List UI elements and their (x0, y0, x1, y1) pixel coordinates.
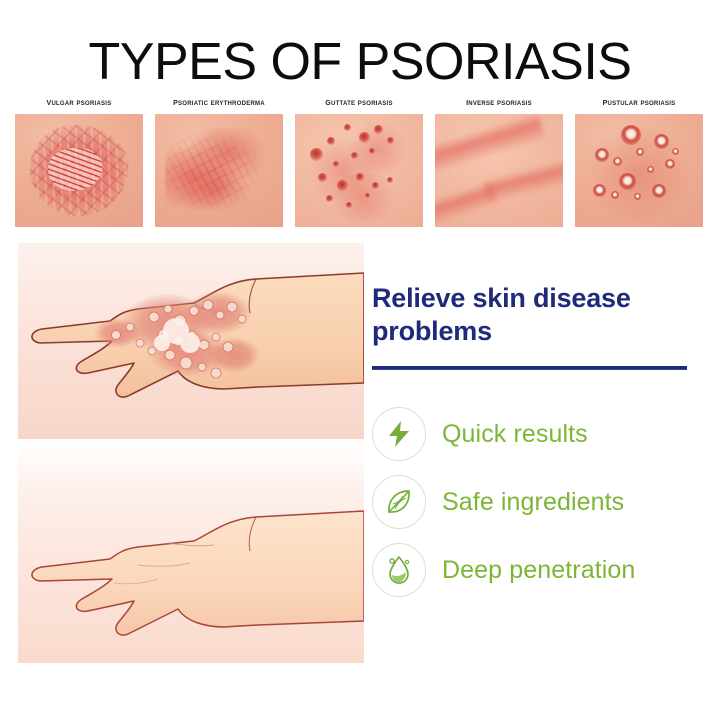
thumbnail-caption: Inverse psoriasis (435, 96, 563, 108)
page-title: TYPES OF PSORIASIS (0, 34, 720, 90)
feature-item-deep-penetration[interactable]: Deep penetration (372, 536, 702, 604)
water-drop-icon (372, 543, 426, 597)
thumbnail-caption: Psoriatic erythroderma (155, 96, 283, 108)
promo-panel: Relieve skin disease problems Quick resu… (372, 282, 702, 604)
thumbnail-psoriatic-erythroderma[interactable]: Psoriatic erythroderma (155, 96, 283, 227)
feature-label: Quick results (442, 420, 588, 449)
skin-lesion-plaque-image (15, 114, 143, 227)
feature-item-safe-ingredients[interactable]: Safe ingredients (372, 468, 702, 536)
thumbnail-caption: Vulgar psoriasis (15, 96, 143, 108)
promo-headline: Relieve skin disease problems (372, 282, 702, 348)
skin-lesion-erythroderma-image (155, 114, 283, 227)
thumbnail-inverse-psoriasis[interactable]: Inverse psoriasis (435, 96, 563, 227)
promo-headline-line2: problems (372, 316, 492, 346)
thumbnail-guttate-psoriasis[interactable]: Guttate psoriasis (295, 96, 423, 227)
poster-root: TYPES OF PSORIASIS Vulgar psoriasis Psor… (0, 0, 720, 720)
skin-lesion-inverse-image (435, 114, 563, 227)
healthy-hand-after-illustration (18, 439, 364, 663)
skin-lesion-guttate-image (295, 114, 423, 227)
hand-treatment-illustration (18, 243, 364, 663)
skin-lesion-pustular-image (575, 114, 703, 227)
feature-list: Quick results Safe ingredients (372, 400, 702, 604)
psoriasis-types-strip: Vulgar psoriasis Psoriatic erythroderma … (15, 96, 705, 236)
leaf-icon (372, 475, 426, 529)
thumbnail-vulgar-psoriasis[interactable]: Vulgar psoriasis (15, 96, 143, 227)
before-hand-svg (18, 243, 364, 439)
thumbnail-caption: Guttate psoriasis (295, 96, 423, 108)
feature-label: Deep penetration (442, 556, 635, 585)
hand-with-psoriasis-before-illustration (18, 243, 364, 439)
promo-headline-line1: Relieve skin disease (372, 283, 631, 313)
headline-divider (372, 366, 687, 370)
after-hand-svg (18, 439, 364, 663)
feature-item-quick-results[interactable]: Quick results (372, 400, 702, 468)
thumbnail-caption: Pustular psoriasis (575, 96, 703, 108)
lightning-bolt-icon (372, 407, 426, 461)
thumbnail-pustular-psoriasis[interactable]: Pustular psoriasis (575, 96, 703, 227)
feature-label: Safe ingredients (442, 488, 624, 517)
